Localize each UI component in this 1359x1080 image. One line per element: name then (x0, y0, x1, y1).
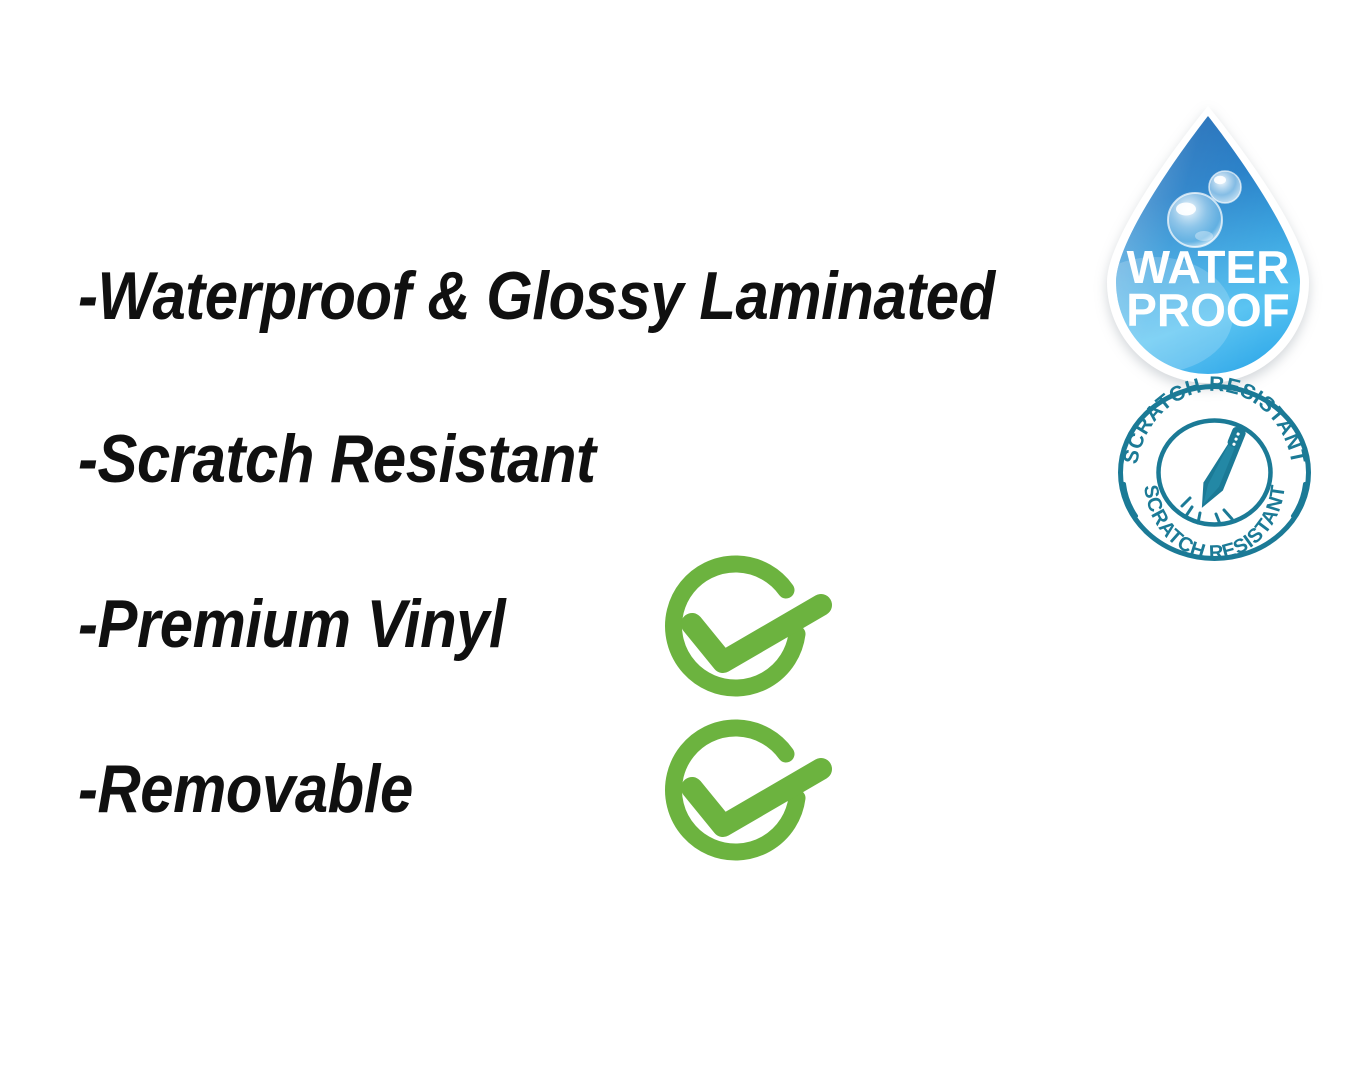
waterproof-droplet-badge: WATER PROOF (1095, 100, 1325, 375)
scratch-resistant-badge: SCRATCH RESISTANT SCRATCH RESISTANT (1112, 380, 1317, 565)
feature-item-scratch-resistant: -Scratch Resistant (78, 425, 596, 493)
feature-item-premium-vinyl: -Premium Vinyl (78, 590, 505, 658)
droplet-bubble-large (1168, 193, 1222, 247)
feature-item-removable: -Removable (78, 755, 413, 823)
feature-item-waterproof-glossy-laminated: -Waterproof & Glossy Laminated (78, 262, 995, 330)
check-icon-premium-vinyl (645, 558, 840, 708)
check-icon-removable (645, 722, 840, 872)
waterproof-line2: PROOF (1126, 284, 1290, 336)
droplet-bubble-small (1209, 171, 1241, 203)
knife-icon (1194, 423, 1246, 512)
feature-list-graphic: -Waterproof & Glossy Laminated -Scratch … (0, 0, 1359, 1080)
